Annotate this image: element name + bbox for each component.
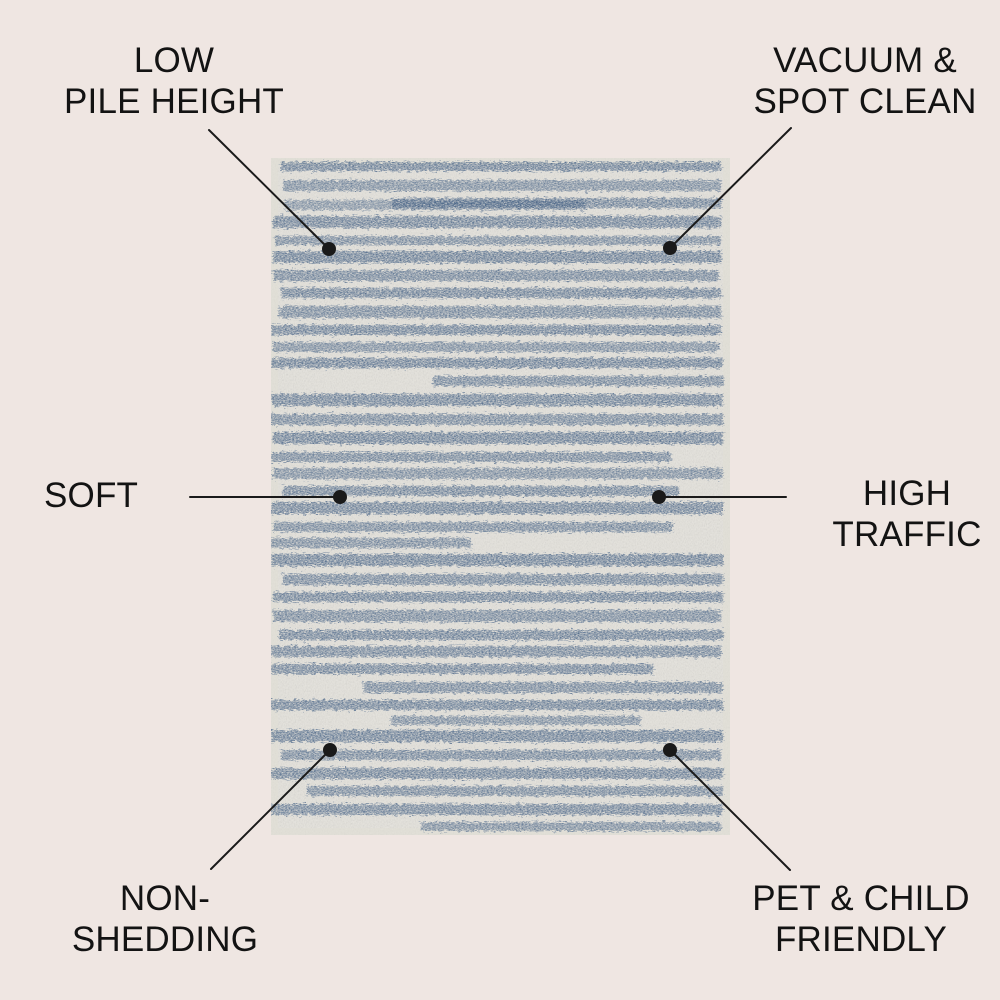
callout-label-soft: SOFT bbox=[44, 475, 194, 516]
rug-feature-infographic: LOW PILE HEIGHT VACUUM & SPOT CLEAN SOFT… bbox=[0, 0, 1000, 1000]
callout-label-low-pile-height: LOW PILE HEIGHT bbox=[44, 40, 304, 122]
rug-svg bbox=[271, 158, 730, 835]
callout-label-high-traffic: HIGH TRAFFIC bbox=[822, 473, 992, 555]
callout-label-pet-child-friendly: PET & CHILD FRIENDLY bbox=[730, 878, 992, 960]
product-rug-image bbox=[271, 158, 730, 835]
callout-label-vacuum-spot-clean: VACUUM & SPOT CLEAN bbox=[740, 40, 990, 122]
callout-label-non-shedding: NON- SHEDDING bbox=[30, 878, 300, 960]
